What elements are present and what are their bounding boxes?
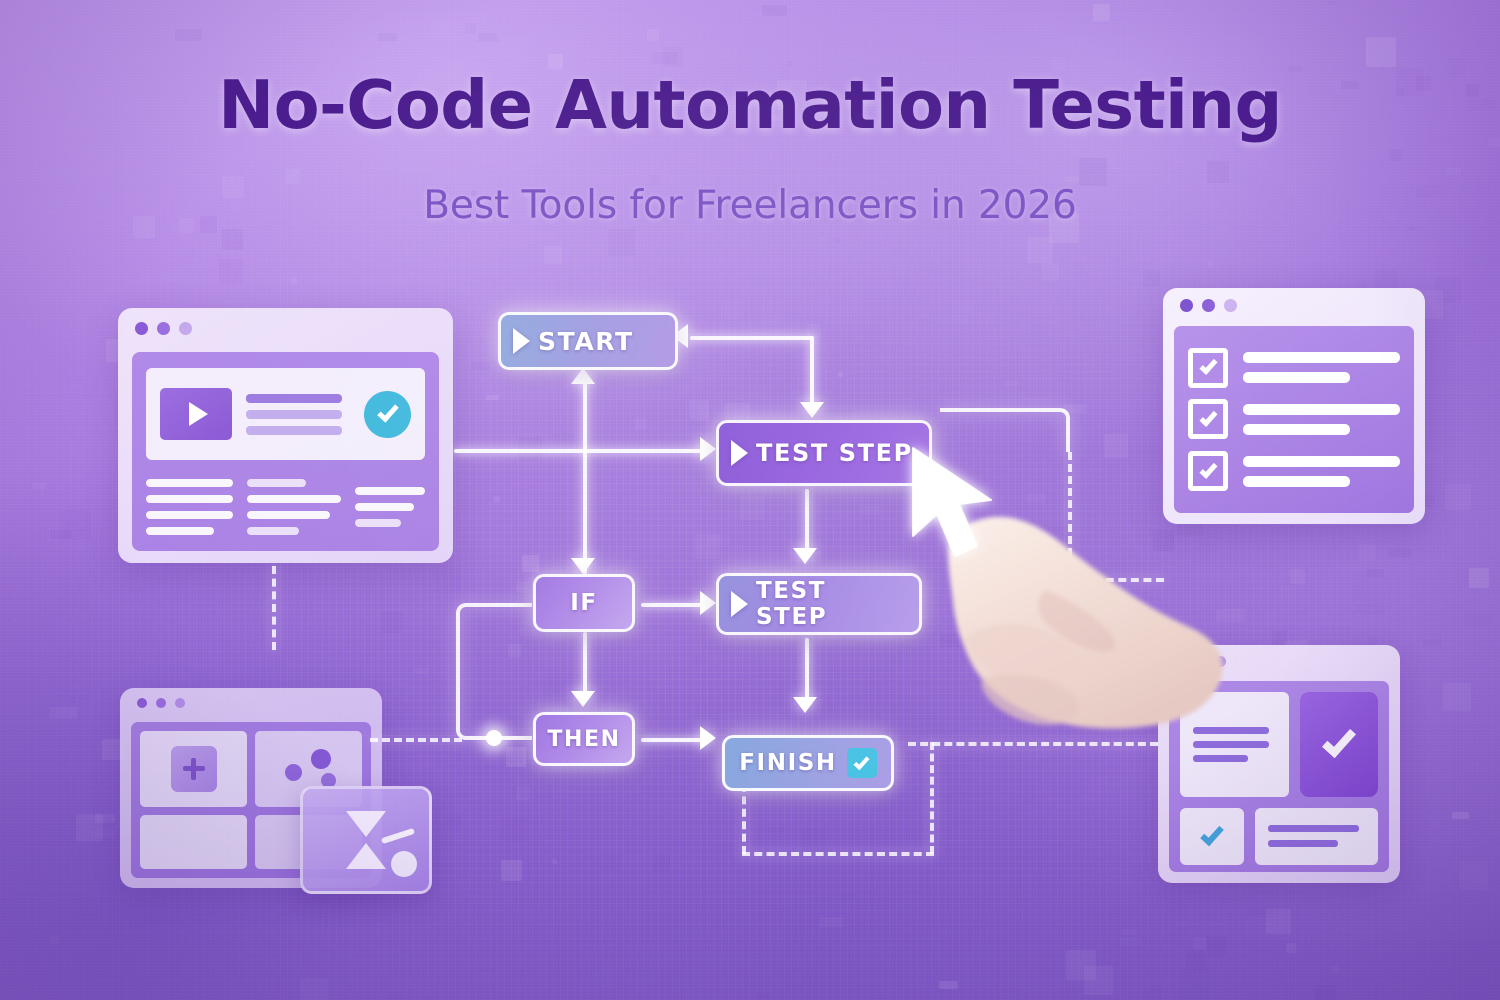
vignette-overlay (0, 0, 1500, 1000)
illustration-canvas: No-Code Automation Testing Best Tools fo… (0, 0, 1500, 1000)
